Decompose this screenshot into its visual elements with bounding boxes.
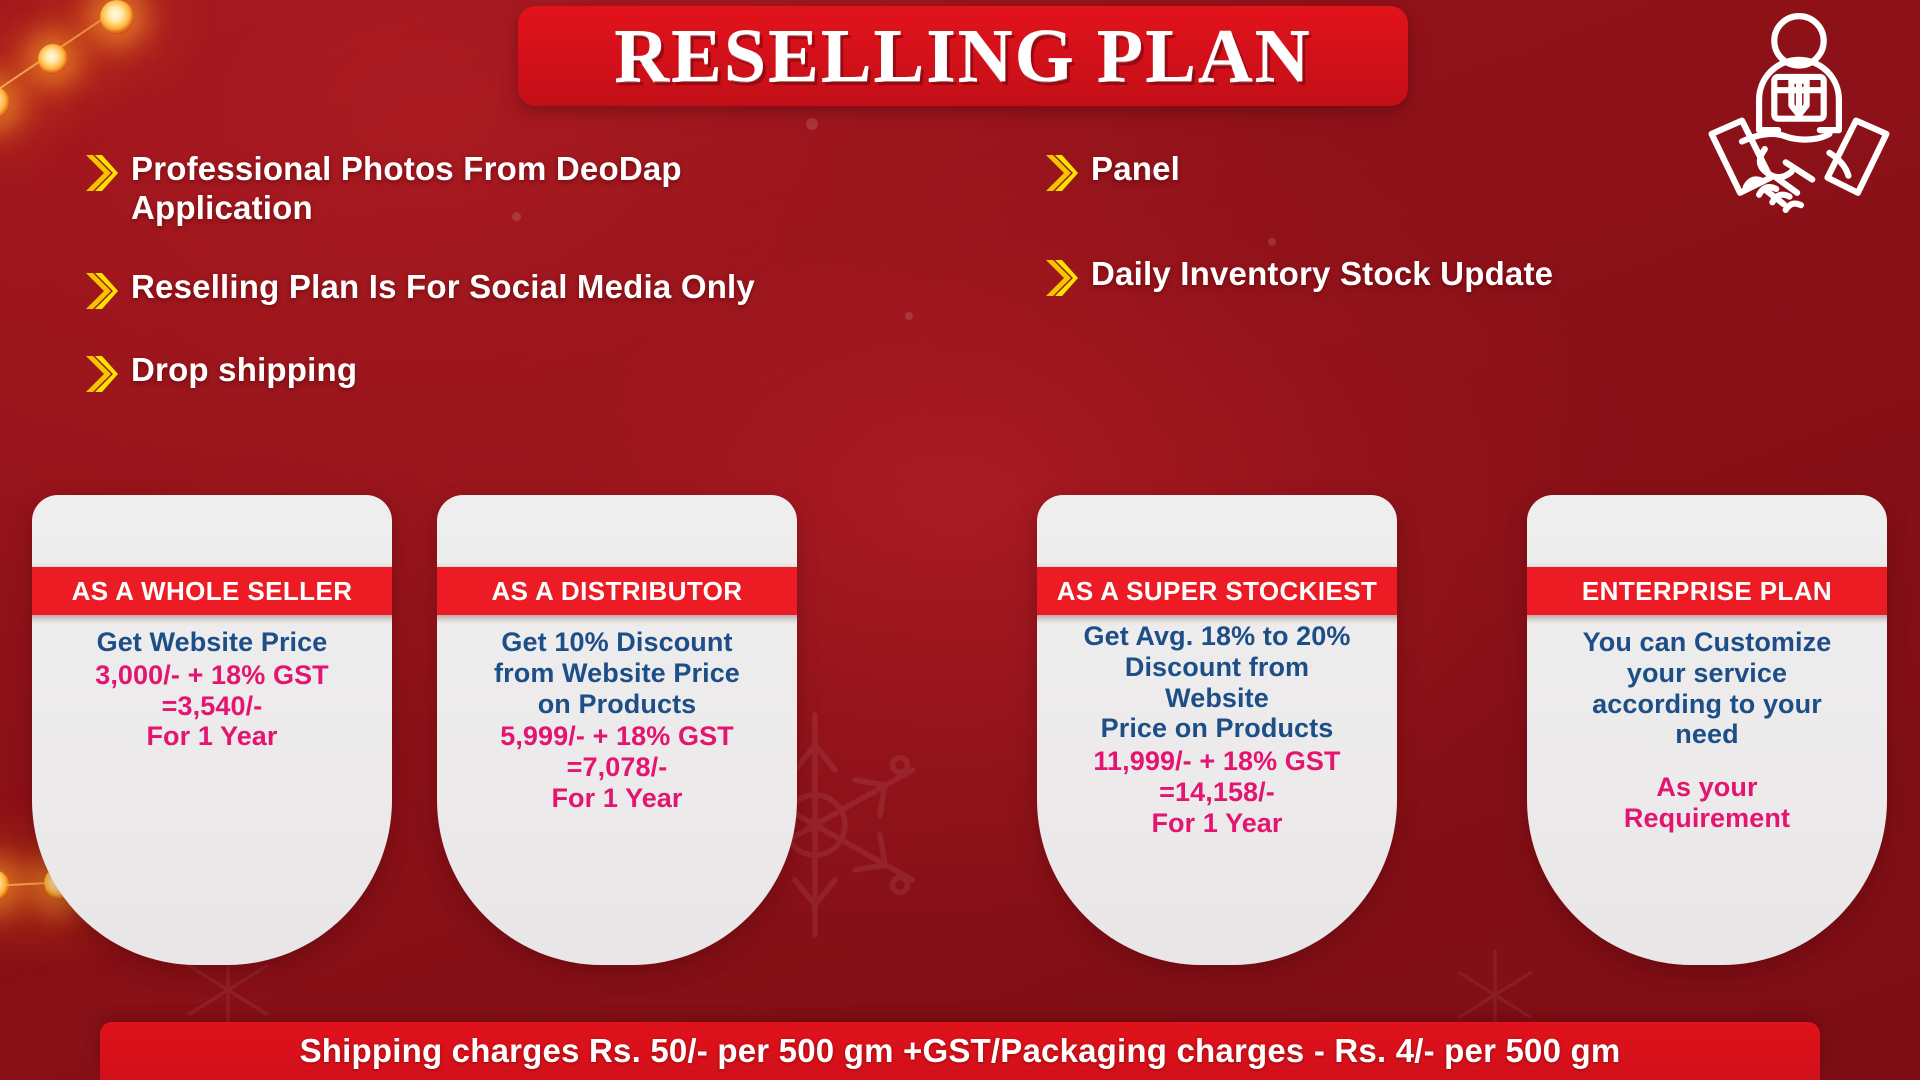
plan-price: As yourRequirement (1541, 772, 1873, 834)
feature-label: Reselling Plan Is For Social Media Only (131, 268, 755, 307)
feature-label: Drop shipping (131, 351, 357, 390)
poster-canvas: RESELLING PLAN (0, 0, 1920, 1080)
plan-card-banner: AS A DISTRIBUTOR (437, 567, 797, 615)
shipping-charges-banner: Shipping charges Rs. 50/- per 500 gm +GS… (100, 1022, 1820, 1080)
features-column-left: Professional Photos From DeoDap Applicat… (84, 150, 824, 434)
shipping-charges-text: Shipping charges Rs. 50/- per 500 gm +GS… (300, 1032, 1621, 1070)
bokeh-dot (806, 118, 818, 130)
double-chevron-right-icon (84, 354, 118, 394)
feature-label: Professional Photos From DeoDap Applicat… (131, 150, 824, 228)
plan-banner-label: AS A DISTRIBUTOR (491, 576, 742, 607)
plan-heading: Get Avg. 18% to 20%Discount fromWebsiteP… (1051, 621, 1383, 744)
plan-card-banner: AS A SUPER STOCKIEST (1037, 567, 1397, 615)
plan-heading: Get 10% Discountfrom Website Priceon Pro… (451, 627, 783, 719)
plan-card-distributor[interactable]: AS A DISTRIBUTOR Get 10% Discountfrom We… (437, 495, 797, 965)
plan-heading: You can Customizeyour serviceaccording t… (1541, 627, 1873, 750)
double-chevron-right-icon (1044, 258, 1078, 298)
feature-label: Panel (1091, 150, 1180, 189)
plan-card-banner: ENTERPRISE PLAN (1527, 567, 1887, 615)
double-chevron-right-icon (84, 153, 118, 193)
plan-card-content: You can Customizeyour serviceaccording t… (1527, 627, 1887, 834)
plan-card-surface: ENTERPRISE PLAN You can Customizeyour se… (1527, 495, 1887, 965)
string-lights-top-left (0, 0, 200, 144)
double-chevron-right-icon (84, 271, 118, 311)
handshake-deal-icon (1704, 8, 1894, 218)
plan-card-content: Get 10% Discountfrom Website Priceon Pro… (437, 627, 797, 814)
plan-card-content: Get Avg. 18% to 20%Discount fromWebsiteP… (1037, 621, 1397, 838)
plan-price: 3,000/- + 18% GST=3,540/-For 1 Year (46, 660, 378, 752)
plan-price: 11,999/- + 18% GST=14,158/-For 1 Year (1051, 746, 1383, 838)
plan-price: 5,999/- + 18% GST=7,078/-For 1 Year (451, 721, 783, 813)
feature-label: Daily Inventory Stock Update (1091, 255, 1553, 294)
plan-card-surface: AS A SUPER STOCKIEST Get Avg. 18% to 20%… (1037, 495, 1397, 965)
page-title-banner: RESELLING PLAN (518, 6, 1408, 106)
feature-item: Reselling Plan Is For Social Media Only (84, 268, 824, 311)
features-column-right: Panel Daily Inventory Stock Update (1044, 150, 1684, 338)
feature-item: Drop shipping (84, 351, 824, 394)
plan-card-surface: AS A DISTRIBUTOR Get 10% Discountfrom We… (437, 495, 797, 965)
plan-banner-label: AS A WHOLE SELLER (72, 576, 353, 607)
plan-heading: Get Website Price (46, 627, 378, 658)
bokeh-dot (905, 312, 913, 320)
plan-card-super-stockiest[interactable]: AS A SUPER STOCKIEST Get Avg. 18% to 20%… (1037, 495, 1397, 965)
feature-item: Professional Photos From DeoDap Applicat… (84, 150, 824, 228)
page-title: RESELLING PLAN (614, 18, 1311, 94)
plan-card-surface: AS A WHOLE SELLER Get Website Price 3,00… (32, 495, 392, 965)
plan-card-banner: AS A WHOLE SELLER (32, 567, 392, 615)
plan-cards: AS A WHOLE SELLER Get Website Price 3,00… (0, 495, 1920, 1015)
plan-card-enterprise[interactable]: ENTERPRISE PLAN You can Customizeyour se… (1527, 495, 1887, 965)
double-chevron-right-icon (1044, 153, 1078, 193)
plan-banner-label: ENTERPRISE PLAN (1582, 576, 1832, 607)
feature-item: Panel (1044, 150, 1684, 193)
plan-card-whole-seller[interactable]: AS A WHOLE SELLER Get Website Price 3,00… (32, 495, 392, 965)
feature-item: Daily Inventory Stock Update (1044, 255, 1684, 298)
plan-banner-label: AS A SUPER STOCKIEST (1057, 576, 1378, 607)
plan-card-content: Get Website Price 3,000/- + 18% GST=3,54… (32, 627, 392, 752)
